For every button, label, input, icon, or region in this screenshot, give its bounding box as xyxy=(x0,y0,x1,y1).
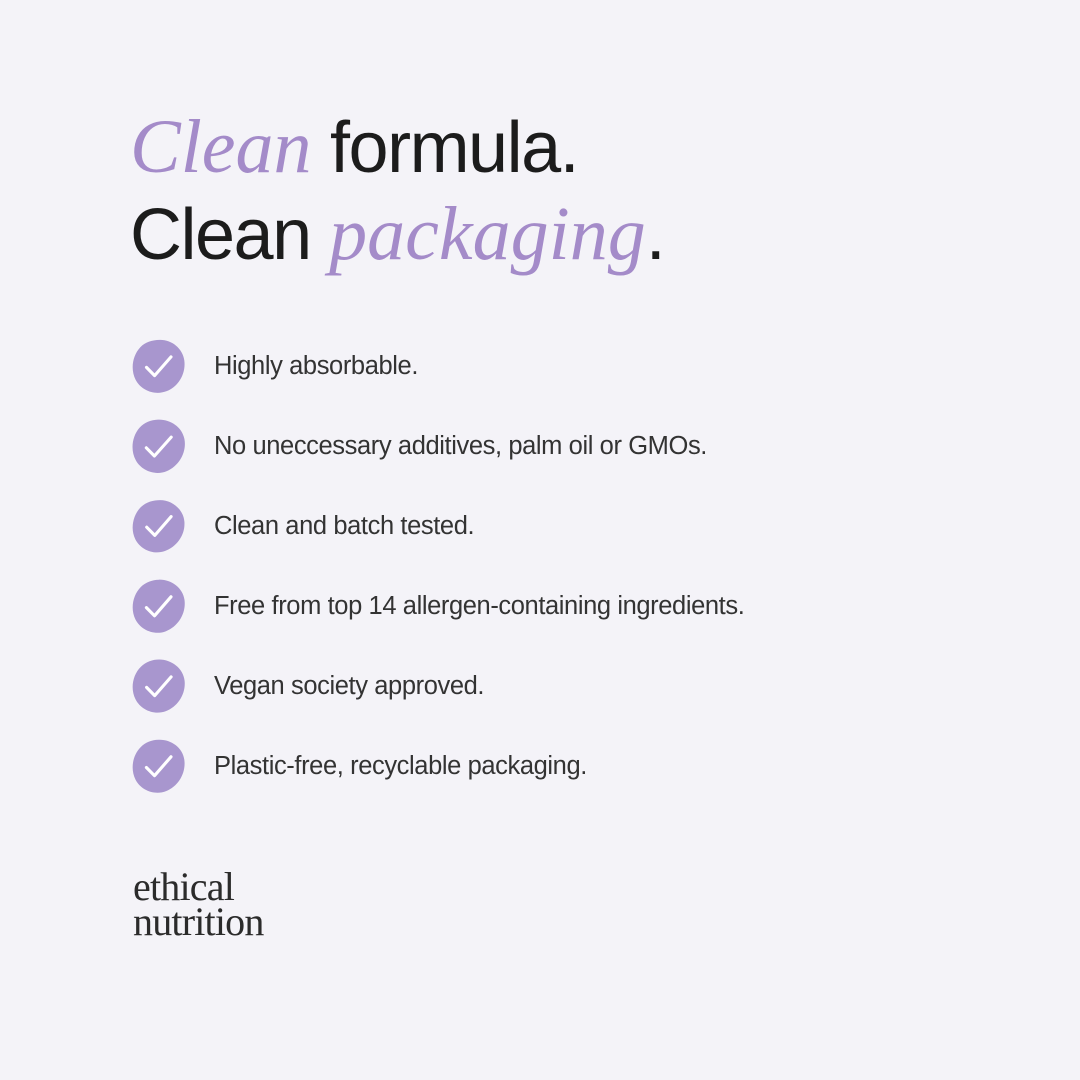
list-item: No uneccessary additives, palm oil or GM… xyxy=(132,417,992,475)
list-item-label: Highly absorbable. xyxy=(214,351,418,381)
headline-period: . xyxy=(646,195,665,275)
check-icon xyxy=(132,579,185,634)
check-icon xyxy=(132,419,185,474)
page-title: Clean formula. Clean packaging. xyxy=(130,104,990,278)
list-item: Clean and batch tested. xyxy=(132,497,992,555)
list-item: Highly absorbable. xyxy=(132,337,992,395)
list-item-label: Plastic-free, recyclable packaging. xyxy=(214,751,587,781)
list-item-label: No uneccessary additives, palm oil or GM… xyxy=(214,431,707,461)
headline-plain-clean: Clean xyxy=(130,195,329,275)
headline-accent-clean: Clean xyxy=(130,105,312,189)
promo-card: Clean formula. Clean packaging. Highly a… xyxy=(0,0,1080,1080)
headline-accent-packaging: packaging xyxy=(329,192,646,276)
list-item: Vegan society approved. xyxy=(132,657,992,715)
brand-logo-line-2: nutrition xyxy=(133,904,264,939)
check-icon xyxy=(132,659,185,714)
headline-plain-formula: formula. xyxy=(312,108,579,188)
list-item-label: Free from top 14 allergen-containing ing… xyxy=(214,591,744,621)
check-icon xyxy=(132,339,185,394)
check-icon xyxy=(132,739,185,794)
benefits-list: Highly absorbable. No uneccessary additi… xyxy=(132,337,992,795)
brand-logo: ethical nutrition xyxy=(133,869,264,939)
check-icon xyxy=(132,499,185,554)
list-item-label: Clean and batch tested. xyxy=(214,511,474,541)
list-item-label: Vegan society approved. xyxy=(214,671,484,701)
list-item: Free from top 14 allergen-containing ing… xyxy=(132,577,992,635)
list-item: Plastic-free, recyclable packaging. xyxy=(132,737,992,795)
headline-line-1: Clean formula. xyxy=(130,104,990,191)
headline-line-2: Clean packaging. xyxy=(130,191,990,278)
